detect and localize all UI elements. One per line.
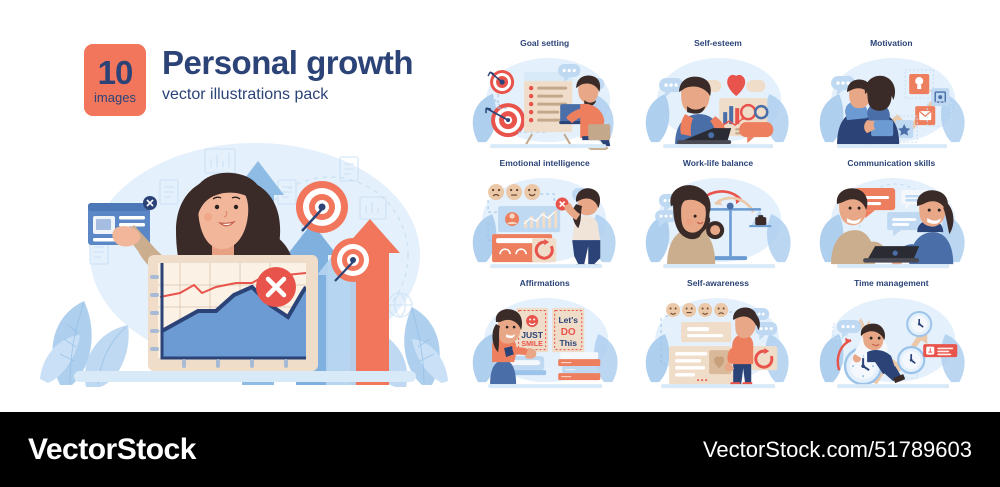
grid-art-affirmations: JUST SMILE Let's DO This [462, 290, 627, 390]
footer-bar: VectorStock VectorStock.com/51789603 [0, 412, 1000, 487]
grid-art-self-awareness [635, 290, 800, 390]
poster-text-lets: Let's [558, 315, 578, 325]
grid-cell-time-management[interactable]: Time management [809, 276, 974, 390]
grid-label-motivation: Motivation [870, 36, 913, 50]
settings-panel [492, 234, 556, 262]
illustration-grid: Goal setting [462, 36, 974, 384]
refresh-tile [752, 346, 778, 370]
image-count-number: 10 [98, 56, 133, 89]
vectorstock-url: VectorStock.com/51789603 [703, 437, 972, 463]
grid-label-emotional-intelligence: Emotional intelligence [500, 156, 590, 170]
summary-card [681, 322, 731, 342]
grid-label-self-awareness: Self-awareness [687, 276, 749, 290]
grid-label-time-management: Time management [854, 276, 928, 290]
chat-bubble-coral-icon [740, 122, 774, 143]
icon-tile-image [931, 88, 949, 106]
grid-art-motivation [809, 50, 974, 150]
grid-label-affirmations: Affirmations [520, 276, 570, 290]
vectorstock-logo: VectorStock [28, 433, 196, 467]
icon-tile-mail [915, 106, 935, 125]
grid-cell-communication-skills[interactable]: Communication skills [809, 156, 974, 270]
ground-bar [74, 371, 416, 382]
grid-art-work-life-balance [635, 170, 800, 270]
grid-art-communication-skills [809, 170, 974, 270]
target-icon-upper [296, 181, 348, 233]
grid-cell-work-life-balance[interactable]: Work-life balance [635, 156, 800, 270]
clock-icon-mid [898, 347, 924, 373]
hero-illustration [40, 135, 450, 390]
profile-stats-card [498, 206, 560, 232]
grid-cell-self-esteem[interactable]: Self-esteem [635, 36, 800, 150]
icon-tile-lightbulb [909, 74, 929, 94]
poster-text-this: This [559, 338, 577, 348]
book-stack [558, 352, 600, 380]
grid-label-work-life-balance: Work-life balance [683, 156, 753, 170]
poster-lets-do-this: Let's DO This [552, 308, 584, 352]
grid-art-time-management [809, 290, 974, 390]
poster-text-smile: SMILE [521, 341, 543, 348]
grid-label-goal-setting: Goal setting [520, 36, 569, 50]
grid-art-emotional-intelligence [462, 170, 627, 270]
emoji-row [488, 184, 540, 200]
poster-just-smile: JUST SMILE [516, 308, 548, 352]
grid-cell-goal-setting[interactable]: Goal setting [462, 36, 627, 150]
grid-cell-emotional-intelligence[interactable]: Emotional intelligence [462, 156, 627, 270]
image-count-word: images [94, 91, 136, 104]
poster-text-just: JUST [521, 330, 544, 340]
grid-cell-affirmations[interactable]: Affirmations JUST [462, 276, 627, 390]
chart-panel [148, 255, 318, 371]
notification-banner [923, 344, 957, 357]
artboard: 10 images Personal growth vector illustr… [0, 0, 1000, 412]
grid-art-self-esteem [635, 50, 800, 150]
clock-icon-small [907, 312, 931, 336]
grid-cell-self-awareness[interactable]: Self-awareness [635, 276, 800, 390]
document-card [669, 346, 733, 384]
grid-label-communication-skills: Communication skills [847, 156, 935, 170]
image-count-badge: 10 images [84, 44, 146, 116]
close-badge-large [256, 267, 296, 307]
title-text-group: Personal growth vector illustrations pac… [162, 44, 413, 104]
grid-art-goal-setting [462, 50, 627, 150]
poster-text-do: DO [561, 327, 576, 338]
grid-label-self-esteem: Self-esteem [694, 36, 742, 50]
target-icon-lower [331, 238, 375, 282]
grid-cell-motivation[interactable]: Motivation [809, 36, 974, 150]
title-block: 10 images Personal growth vector illustr… [84, 44, 413, 116]
page-title: Personal growth [162, 46, 413, 81]
page-subtitle: vector illustrations pack [162, 86, 413, 104]
